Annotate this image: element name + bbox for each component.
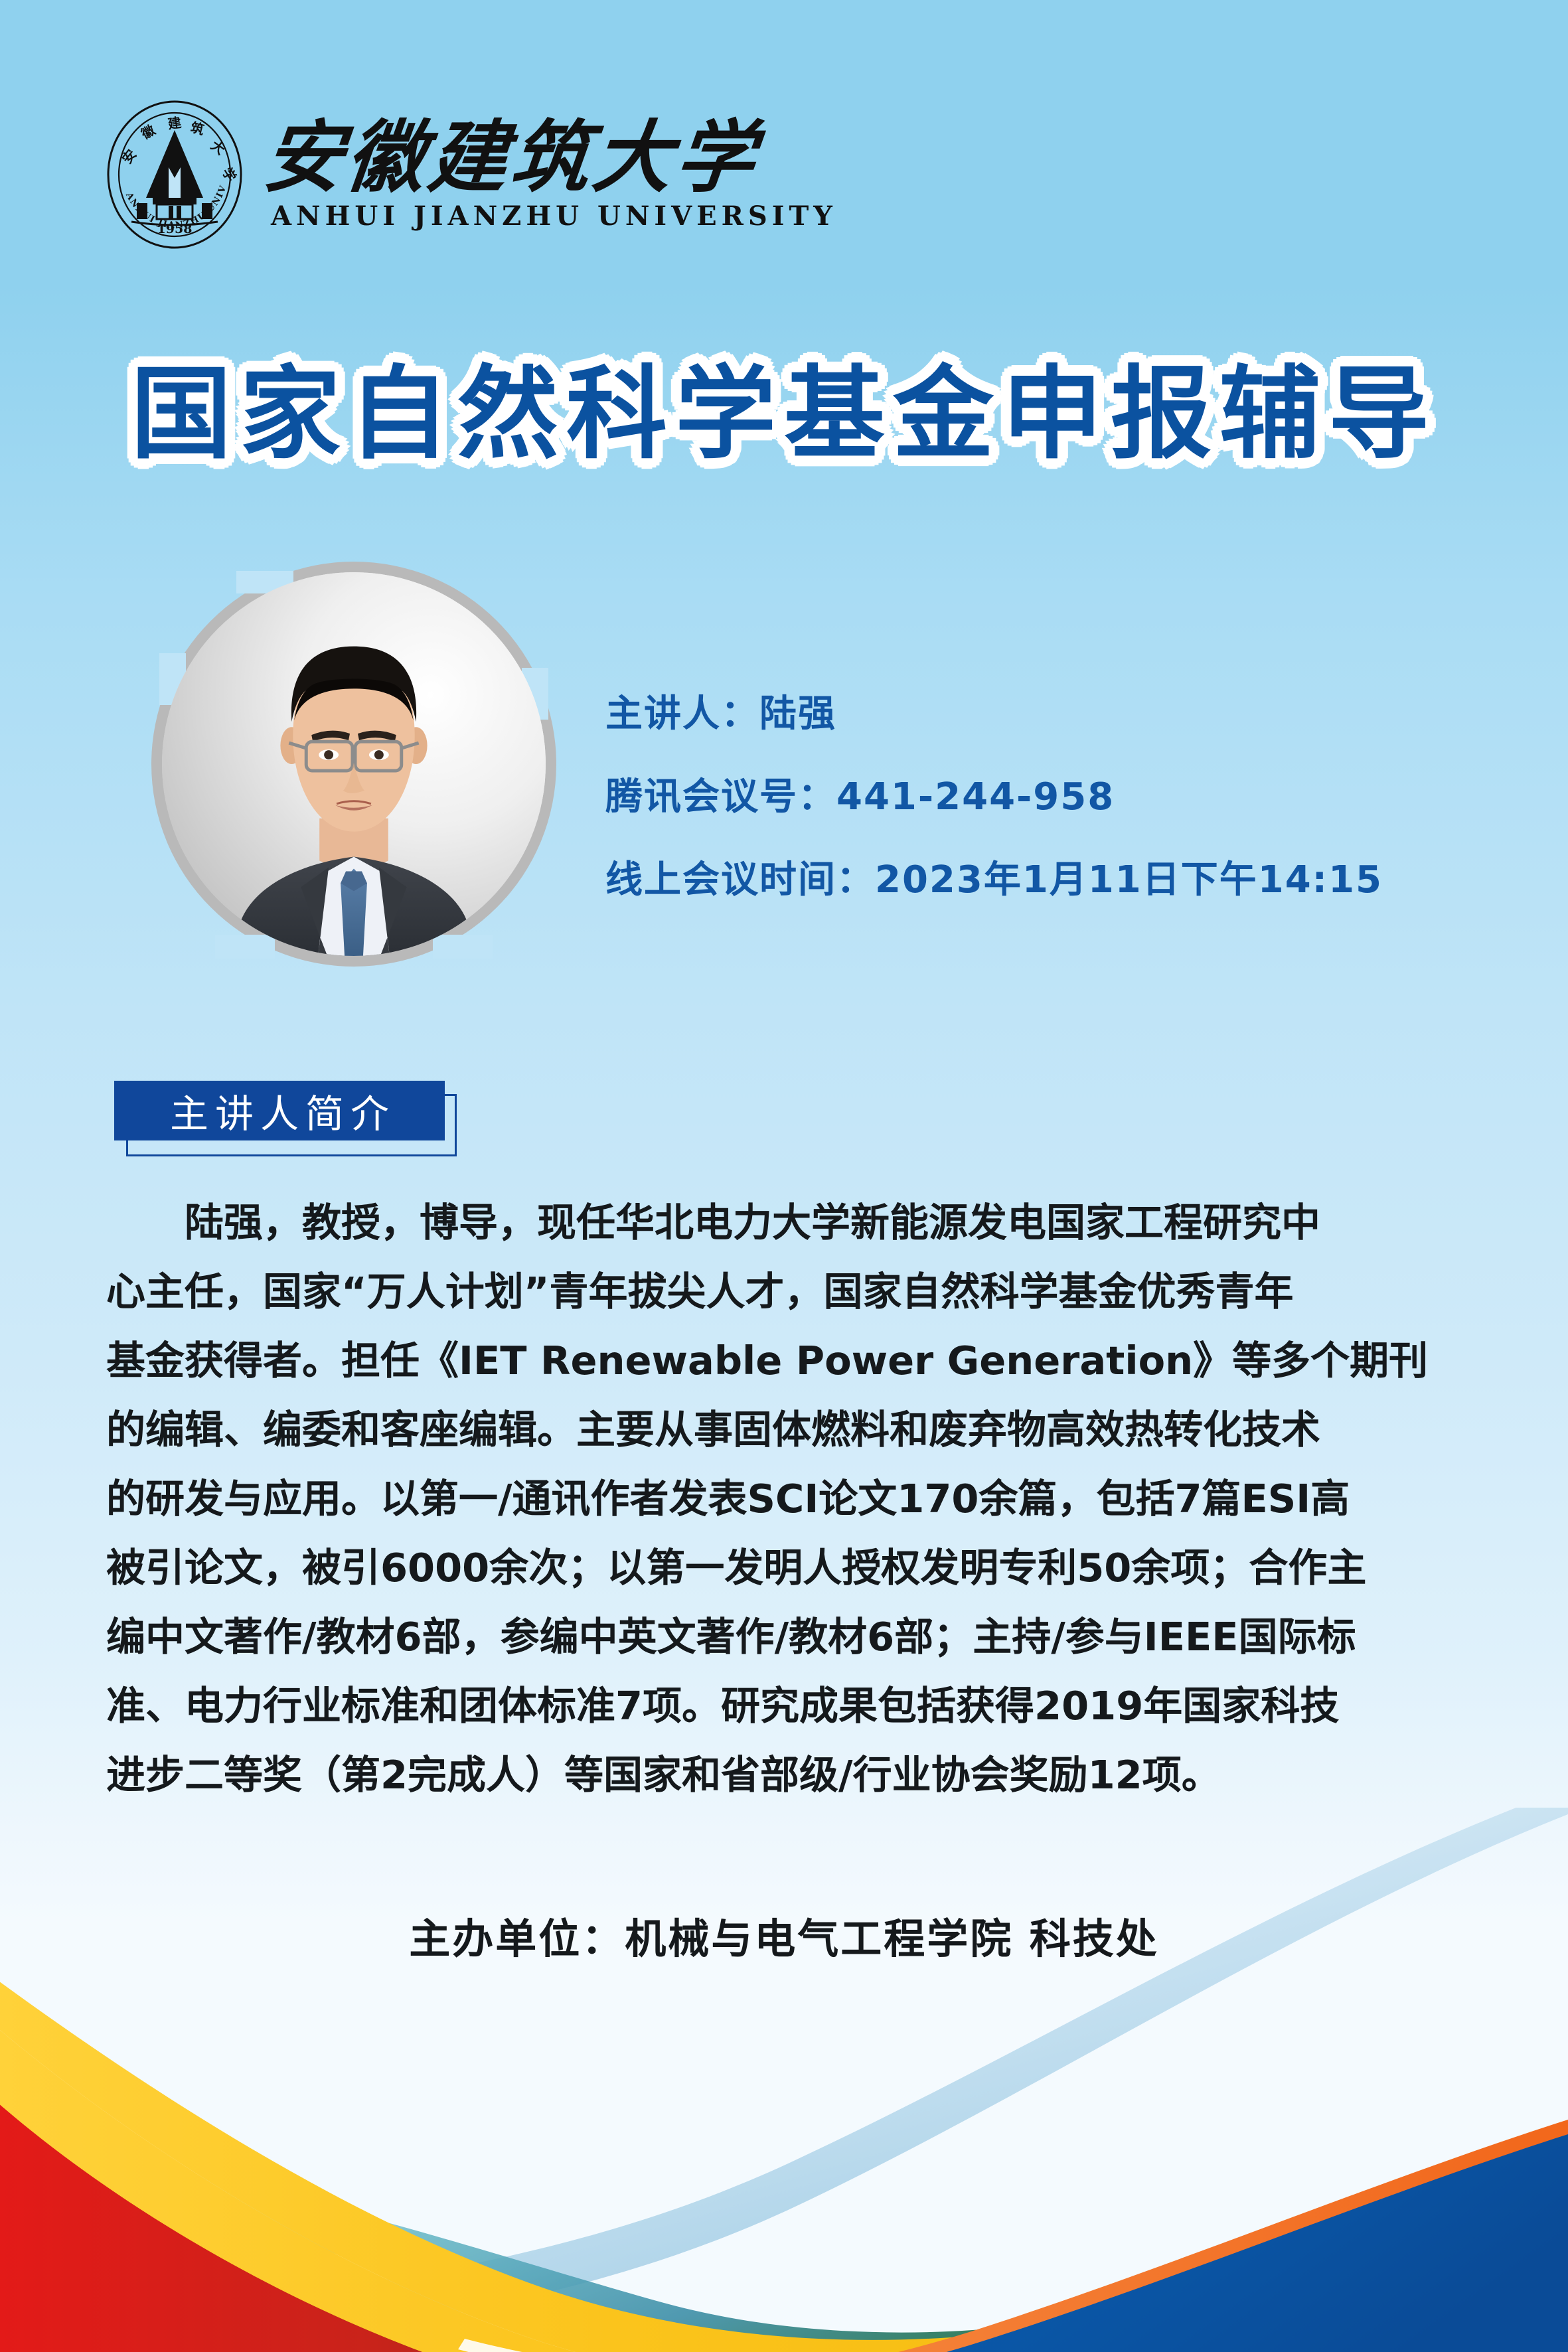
university-name-cn: 安徽建筑大学: [260, 118, 841, 196]
wordmark: 安徽建筑大学 ANHUI JIANZHU UNIVERSITY: [264, 118, 837, 232]
meeting-time-line: 线上会议时间：2023年1月11日下午14:15: [605, 850, 1383, 903]
university-name-en: ANHUI JIANZHU UNIVERSITY: [264, 200, 837, 232]
university-seal-icon: 1958 ANHUI JIANZHU UNIVERSITY 安 徽 建 筑 大 …: [105, 98, 244, 251]
bio-line: 准、电力行业标准和团体标准7项。研究成果包括获得2019年国家科技: [106, 1672, 1474, 1741]
meeting-id-line: 腾讯会议号：441-244-958: [605, 767, 1383, 821]
bio-line: 进步二等奖（第2完成人）等国家和省部级/行业协会奖励12项。: [106, 1741, 1474, 1810]
speaker-info-block: 主讲人：陆强 腾讯会议号：441-244-958 线上会议时间：2023年1月1…: [605, 684, 1383, 903]
bio-section-header: 主讲人简介: [114, 1081, 446, 1144]
decorative-wave-graphic: [0, 1808, 1568, 2352]
bio-text: 陆强，教授，博导，现任华北电力大学新能源发电国家工程研究中 心主任，国家“万人计…: [106, 1188, 1474, 1810]
poster-root: 1958 ANHUI JIANZHU UNIVERSITY 安 徽 建 筑 大 …: [0, 0, 1568, 2352]
svg-text:安: 安: [119, 147, 139, 167]
section-header-box: 主讲人简介: [114, 1081, 445, 1140]
page-title: 国家自然科学基金申报辅导: [0, 332, 1568, 478]
speaker-name-line: 主讲人：陆强: [605, 684, 1383, 738]
university-logo: 1958 ANHUI JIANZHU UNIVERSITY 安 徽 建 筑 大 …: [105, 98, 837, 251]
svg-text:大: 大: [208, 137, 228, 158]
bio-line: 心主任，国家“万人计划”青年拔尖人才，国家自然科学基金优秀青年: [106, 1257, 1474, 1326]
bio-line: 被引论文，被引6000余次；以第一发明人授权发明专利50余项；合作主: [106, 1533, 1474, 1603]
svg-text:学: 学: [219, 165, 240, 185]
bio-line: 陆强，教授，博导，现任华北电力大学新能源发电国家工程研究中: [106, 1188, 1474, 1257]
bio-line: 基金获得者。担任《IET Renewable Power Generation》…: [106, 1326, 1474, 1395]
section-header-label: 主讲人简介: [163, 1083, 396, 1138]
organizer-line: 主办单位：机械与电气工程学院 科技处: [0, 1905, 1568, 1965]
bio-line: 的编辑、编委和客座编辑。主要从事固体燃料和废弃物高效热转化技术: [106, 1395, 1474, 1464]
bio-line: 编中文著作/教材6部，参编中英文著作/教材6部；主持/参与IEEE国际标: [106, 1603, 1474, 1672]
bio-line: 的研发与应用。以第一/通讯作者发表SCI论文170余篇，包括7篇ESI高: [106, 1464, 1474, 1533]
speaker-portrait: [151, 562, 556, 967]
svg-text:筑: 筑: [189, 119, 206, 138]
portrait-photo: [162, 572, 546, 956]
svg-text:建: 建: [167, 114, 182, 132]
